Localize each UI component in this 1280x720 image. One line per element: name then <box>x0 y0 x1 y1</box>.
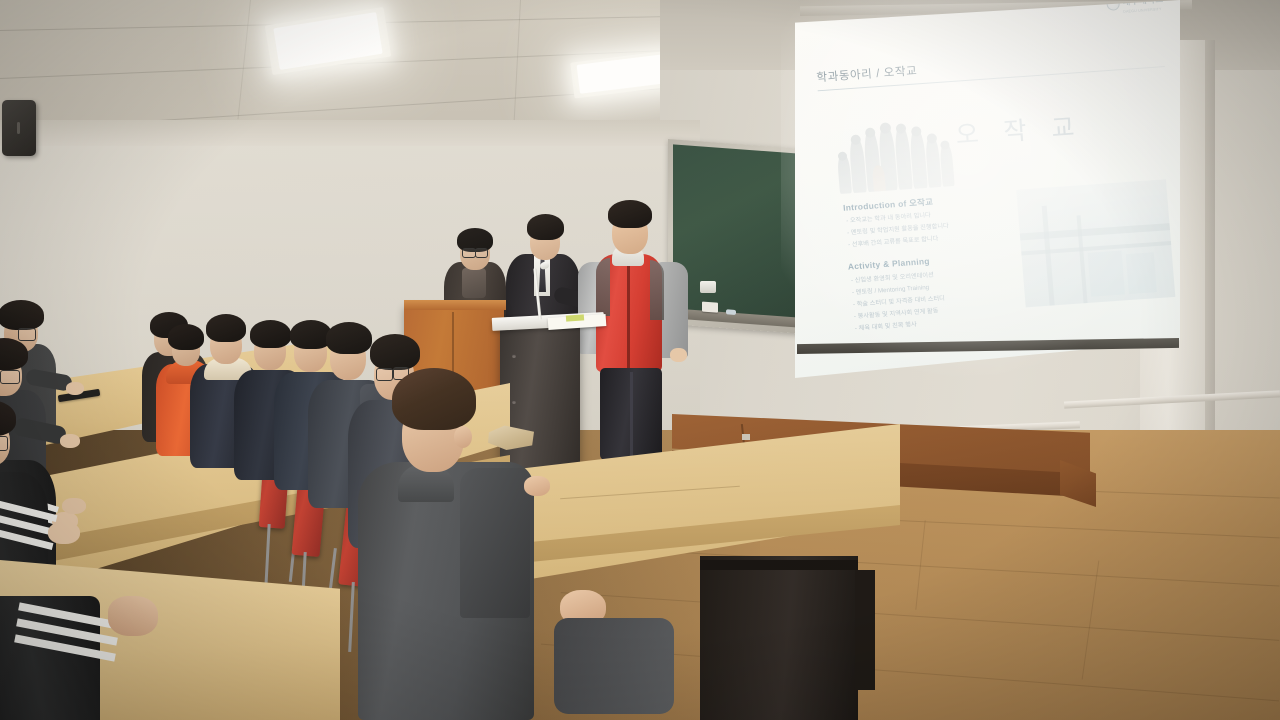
slide-header: 학과동아리 / 오작교 <box>816 45 1169 91</box>
table-leg-rail <box>700 560 858 570</box>
glasses-icon <box>0 370 20 384</box>
slide-group-photo <box>832 106 956 194</box>
glasses-icon <box>376 368 393 381</box>
speaker-icon <box>2 100 36 156</box>
logo-subtext: DAEGU UNIVERSITY <box>1123 7 1164 14</box>
presenter-center-hair <box>527 214 564 240</box>
ear <box>454 426 472 448</box>
chalk-piece <box>726 309 736 315</box>
table-leg <box>855 570 875 690</box>
coat-arm <box>460 468 530 618</box>
slide-section-bullets-1: - 오작교는 학과 내 동아리 입니다 - 멘토링 및 학업지원 활동을 진행합… <box>846 209 950 252</box>
table-leg-panel <box>700 556 858 720</box>
presenter-right-hand <box>670 348 687 362</box>
university-logo: 대구대학교 DAEGU UNIVERSITY <box>1106 0 1165 15</box>
presenter-right-hair <box>608 200 652 228</box>
vest-zipper <box>627 258 630 370</box>
projection-screen-surface: 대구대학교 DAEGU UNIVERSITY 학과동아리 / 오작교 <box>795 0 1180 378</box>
pants-seam <box>630 372 633 458</box>
foreground-lap <box>554 618 674 714</box>
slide-section-heading-2: Activity & Planning <box>847 256 930 272</box>
wall-soffit <box>0 120 700 146</box>
wooden-cabinet-top <box>404 300 506 310</box>
vest-shoulder-panel <box>596 258 610 316</box>
vest-shoulder-panel <box>650 260 664 320</box>
slide-title: 학과동아리 / 오작교 <box>816 45 1168 86</box>
cup-on-ledge <box>700 281 716 293</box>
glasses-icon <box>0 436 8 451</box>
glasses-icon <box>462 248 476 258</box>
audience-hands <box>108 596 158 636</box>
glasses-icon <box>475 248 488 258</box>
slide-secondary-photo <box>1016 179 1175 307</box>
classroom-scene: 대구대학교 DAEGU UNIVERSITY 학과동아리 / 오작교 <box>0 0 1280 720</box>
glasses-icon <box>18 328 36 341</box>
foreground-hair <box>392 368 476 430</box>
highlighted-note <box>566 314 584 321</box>
presenter-left-scarf <box>462 268 486 298</box>
chalkboard-eraser <box>702 301 718 312</box>
slide-content: 대구대학교 DAEGU UNIVERSITY 학과동아리 / 오작교 <box>805 0 1193 347</box>
slide-big-word: 오 작 교 <box>954 107 1084 152</box>
bench-plate <box>742 434 750 440</box>
foreground-hand <box>524 476 550 496</box>
logo-text: 대구대학교 <box>1122 0 1164 7</box>
slide-section-bullets-2: - 신입생 환영회 및 오리엔테이션 - 멘토링 / Mentoring Tra… <box>851 269 948 335</box>
projection-screen: 대구대학교 DAEGU UNIVERSITY 학과동아리 / 오작교 <box>795 0 1190 400</box>
logo-mark-icon <box>1106 0 1120 10</box>
